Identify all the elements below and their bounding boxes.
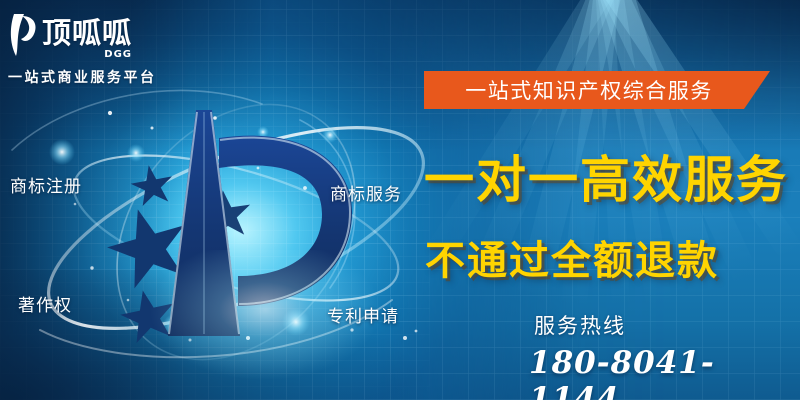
brand-tagline: 一站式商业服务平台: [8, 67, 178, 87]
keyword-trademark-service[interactable]: 商标服务: [330, 180, 402, 205]
promo-ribbon: 一站式知识产权综合服务: [424, 71, 770, 109]
leaf-feather-icon: [8, 12, 38, 60]
logo-wordmark: 顶呱呱: [42, 19, 132, 48]
hotline-label: 服务热线: [534, 310, 626, 340]
brand-logo[interactable]: 顶呱呱 DGG 一站式商业服务平台: [8, 12, 178, 87]
keyword-copyright[interactable]: 著作权: [18, 291, 72, 316]
promo-ribbon-label: 一站式知识产权综合服务: [465, 75, 729, 105]
keyword-patent-application[interactable]: 专利申请: [327, 302, 399, 327]
logo-initials: DGG: [42, 50, 132, 60]
keyword-trademark-registration[interactable]: 商标注册: [10, 172, 82, 197]
hotline-number[interactable]: 180-8041-1144: [529, 345, 800, 400]
promo-banner: 顶呱呱 DGG 一站式商业服务平台 商标注册 著作权 商标服务 专利申请 一站式…: [0, 0, 800, 400]
promo-subheadline: 不通过全额退款: [425, 228, 785, 286]
promo-headline: 一对一高效服务: [424, 140, 784, 212]
